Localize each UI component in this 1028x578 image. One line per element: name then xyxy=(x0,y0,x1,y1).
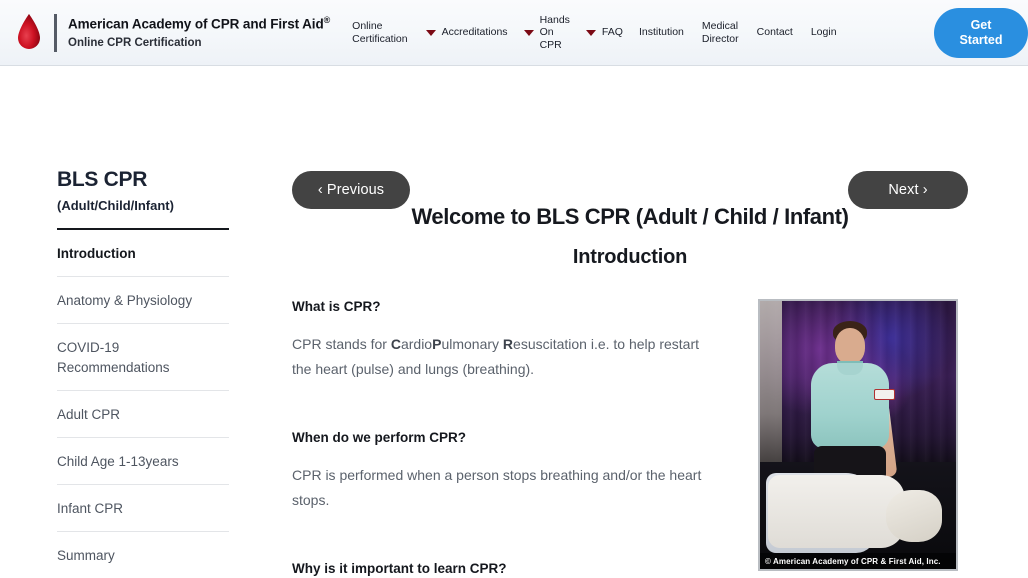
section-paragraph-when-do-we-perform-cpr: CPR is performed when a person stops bre… xyxy=(292,463,722,513)
page-subtitle: Introduction xyxy=(292,246,968,269)
nav-item-hands-on-cpr[interactable]: Hands On CPR xyxy=(524,14,570,52)
cpr-demonstration-photo: © American Academy of CPR & First Aid, I… xyxy=(758,299,958,571)
nav-item-faq[interactable]: FAQ xyxy=(586,26,623,38)
content-columns: What is CPR? CPR stands for CardioPulmon… xyxy=(292,299,968,578)
sidebar-item-covid-19-recommendations[interactable]: COVID-19 Recommendations xyxy=(57,324,229,390)
photo-wall xyxy=(760,301,782,462)
photo-manikin-body xyxy=(768,475,905,547)
nav-item-online-certification[interactable]: Online Certification xyxy=(352,20,407,45)
brand-block[interactable]: American Academy of CPR and First Aid® O… xyxy=(0,11,330,55)
photo-copyright-caption: © American Academy of CPR & First Aid, I… xyxy=(760,553,956,569)
brand-title-text: American Academy of CPR and First Aid xyxy=(68,16,324,31)
sidebar-item-introduction[interactable]: Introduction xyxy=(57,230,229,277)
photo-instructor-badge xyxy=(874,389,895,400)
brand-text: American Academy of CPR and First Aid® O… xyxy=(68,15,330,50)
chevron-down-icon xyxy=(426,30,436,36)
brand-divider xyxy=(54,14,57,52)
nav-label: Contact xyxy=(757,26,793,38)
section-paragraph-what-is-cpr: CPR stands for CardioPulmonary Resuscita… xyxy=(292,332,722,382)
get-started-button[interactable]: Get Started xyxy=(934,8,1028,58)
next-button[interactable]: Next › xyxy=(848,171,968,209)
course-title: BLS CPR xyxy=(57,168,229,192)
brand-title: American Academy of CPR and First Aid® xyxy=(68,15,330,32)
bold-c: C xyxy=(391,336,401,352)
nav-label: FAQ xyxy=(602,26,623,38)
nav-item-login[interactable]: Login xyxy=(811,26,837,38)
photo-instructor-torso xyxy=(811,363,889,449)
photo-instructor-head xyxy=(835,328,865,364)
lesson-media-column: © American Academy of CPR & First Aid, I… xyxy=(758,299,958,578)
nav-label: Hands On CPR xyxy=(540,14,570,52)
main-navigation: Online Certification Accreditations Hand… xyxy=(352,0,926,66)
blood-drop-icon xyxy=(14,11,44,55)
lesson-content: ‹ Previous Next › Welcome to BLS CPR (Ad… xyxy=(292,171,968,578)
registered-mark: ® xyxy=(324,15,331,25)
nav-label: Online Certification xyxy=(352,20,407,45)
nav-item-accreditations[interactable]: Accreditations xyxy=(426,26,508,38)
chevron-down-icon xyxy=(586,30,596,36)
sidebar-item-child-age-1-13years[interactable]: Child Age 1-13years xyxy=(57,438,229,485)
nav-label: Institution xyxy=(639,26,684,38)
sidebar-item-adult-cpr[interactable]: Adult CPR xyxy=(57,391,229,438)
nav-label: Accreditations xyxy=(442,26,508,38)
nav-label: Login xyxy=(811,26,837,38)
bold-r: R xyxy=(503,336,513,352)
section-heading-why-is-it-important-to-learn-cpr: Why is it important to learn CPR? xyxy=(292,561,722,576)
sidebar-item-summary[interactable]: Summary xyxy=(57,532,229,578)
nav-item-medical-director[interactable]: Medical Director xyxy=(702,20,739,45)
lesson-text-column: What is CPR? CPR stands for CardioPulmon… xyxy=(292,299,722,578)
course-subtitle: (Adult/Child/Infant) xyxy=(57,198,229,213)
site-header: American Academy of CPR and First Aid® O… xyxy=(0,0,1028,66)
photo-manikin-head xyxy=(886,490,942,542)
section-heading-when-do-we-perform-cpr: When do we perform CPR? xyxy=(292,430,722,445)
previous-button[interactable]: ‹ Previous xyxy=(292,171,410,209)
course-sidebar: BLS CPR (Adult/Child/Infant) Introductio… xyxy=(57,168,229,578)
para-mid2: ulmonary xyxy=(441,336,502,352)
pager-controls: ‹ Previous Next › xyxy=(292,171,968,213)
para-mid1: ardio xyxy=(401,336,432,352)
sidebar-item-infant-cpr[interactable]: Infant CPR xyxy=(57,485,229,532)
page-body: BLS CPR (Adult/Child/Infant) Introductio… xyxy=(0,66,1028,578)
nav-label: Medical Director xyxy=(702,20,739,45)
section-heading-what-is-cpr: What is CPR? xyxy=(292,299,722,314)
chevron-down-icon xyxy=(524,30,534,36)
nav-item-contact[interactable]: Contact xyxy=(757,26,793,38)
nav-item-institution[interactable]: Institution xyxy=(639,26,684,38)
sidebar-item-anatomy-physiology[interactable]: Anatomy & Physiology xyxy=(57,277,229,324)
brand-subtitle: Online CPR Certification xyxy=(68,37,330,50)
para-prefix: CPR stands for xyxy=(292,336,391,352)
